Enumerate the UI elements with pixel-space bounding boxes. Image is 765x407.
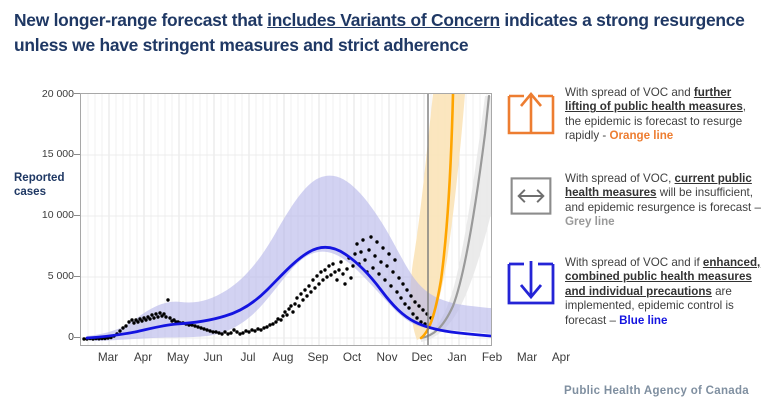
x-tick-label-may: May <box>158 350 198 364</box>
x-tick-label-jun: Jun <box>193 350 233 364</box>
chart-series-layer <box>81 94 491 345</box>
legend-grey-pre: With spread of VOC, <box>565 172 675 185</box>
title-underlined-phrase: includes Variants of Concern <box>267 10 500 30</box>
y-tick-label-20000: 20 000 <box>42 88 74 100</box>
x-tick-label-feb: Feb <box>472 350 512 364</box>
title-text-part1: New longer-range forecast that <box>14 10 267 30</box>
x-tick-label-jan: Jan <box>437 350 477 364</box>
forecast-chart: Reported cases 20 000 15 000 10 000 5 00… <box>0 84 500 359</box>
double-arrow-horizontal-in-box-icon <box>506 174 556 218</box>
y-tick-label-15000: 15 000 <box>42 148 74 160</box>
arrow-up-out-of-box-icon <box>506 88 556 138</box>
y-axis-title-line1: Reported <box>14 172 82 186</box>
legend-item-orange[interactable]: With spread of VOC and further lifting o… <box>503 86 765 158</box>
legend-grey-keyword: Grey line <box>565 215 615 228</box>
x-tick-label-apr2: Apr <box>541 350 581 364</box>
y-tick-label-10000: 10 000 <box>42 209 74 221</box>
legend-blue-keyword: Blue line <box>619 314 667 327</box>
x-tick-label-apr1: Apr <box>123 350 163 364</box>
x-tick-label-aug: Aug <box>263 350 303 364</box>
legend-text-orange: With spread of VOC and further lifting o… <box>565 86 761 144</box>
y-axis-title-line2: cases <box>14 186 82 200</box>
y-axis-title: Reported cases <box>14 172 82 199</box>
arrow-down-into-box-icon <box>506 258 556 308</box>
legend-orange-keyword: Orange line <box>609 129 673 142</box>
x-tick-label-jul: Jul <box>228 350 268 364</box>
x-tick-label-mar1: Mar <box>88 350 128 364</box>
x-tick-label-nov: Nov <box>367 350 407 364</box>
slide-canvas: New longer-range forecast that includes … <box>0 0 765 407</box>
legend-item-grey[interactable]: With spread of VOC, current public healt… <box>503 172 765 244</box>
x-tick-label-dec: Dec <box>402 350 442 364</box>
legend-text-grey: With spread of VOC, current public healt… <box>565 172 761 230</box>
page-title: New longer-range forecast that includes … <box>14 8 754 58</box>
legend-text-blue: With spread of VOC and if enhanced, comb… <box>565 256 761 328</box>
source-attribution: Public Health Agency of Canada <box>564 385 749 397</box>
plot-area <box>80 93 492 346</box>
legend-orange-pre: With spread of VOC and <box>565 86 694 99</box>
x-tick-label-oct: Oct <box>332 350 372 364</box>
y-tick-label-5000: 5 000 <box>48 270 74 282</box>
legend-blue-pre: With spread of VOC and if <box>565 256 703 269</box>
legend-item-blue[interactable]: With spread of VOC and if enhanced, comb… <box>503 256 765 342</box>
